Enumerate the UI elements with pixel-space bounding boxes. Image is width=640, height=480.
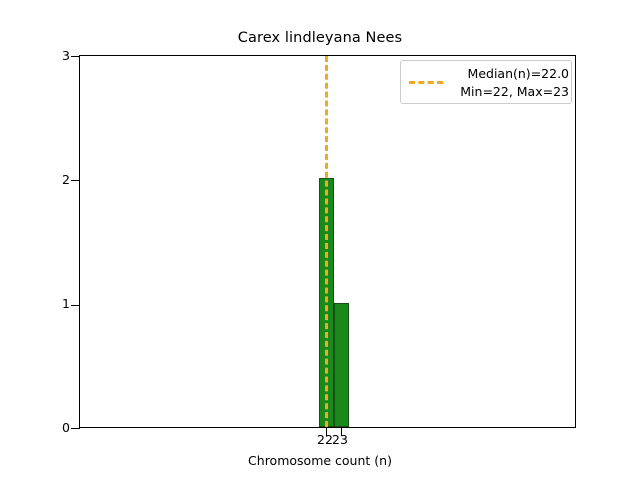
y-tick-1 (71, 305, 80, 306)
legend-label-median: Median(n)=22.0 (449, 65, 569, 83)
y-tick-label-2: 2 (52, 172, 70, 187)
legend[interactable]: Median(n)=22.0 Min=22, Max=23 (400, 60, 572, 104)
y-tick-3 (71, 56, 80, 57)
plot-area (80, 56, 575, 427)
bar-23 (334, 303, 349, 427)
median-line (325, 56, 328, 427)
y-tick-label-1: 1 (52, 296, 70, 311)
legend-text: Median(n)=22.0 Min=22, Max=23 (449, 65, 569, 101)
chart-title: Carex lindleyana Nees (0, 30, 640, 46)
dashed-line-icon (409, 81, 443, 84)
legend-label-minmax: Min=22, Max=23 (449, 83, 569, 101)
axes-frame (79, 55, 576, 428)
x-tick-label-23: 23 (326, 432, 354, 447)
chart-figure: Carex lindleyana Nees Num of counts (Tot… (0, 0, 640, 480)
legend-entry-median: Median(n)=22.0 Min=22, Max=23 (401, 61, 571, 103)
y-tick-label-3: 3 (52, 48, 70, 63)
x-axis-label: Chromosome count (n) (0, 453, 640, 468)
y-tick-2 (71, 180, 80, 181)
y-tick-label-0: 0 (52, 420, 70, 435)
y-tick-0 (71, 428, 80, 429)
